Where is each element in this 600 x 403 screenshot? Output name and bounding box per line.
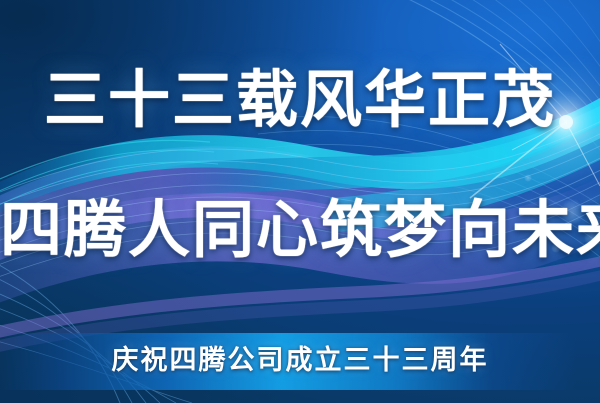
headline-line-2: 四腾人同心筑梦向未来 xyxy=(0,196,600,264)
subtitle-text: 庆祝四腾公司成立三十三周年 xyxy=(0,340,600,382)
headline-line-1: 三十三载风华正茂 xyxy=(0,66,600,134)
anniversary-banner: 三十三载风华正茂 四腾人同心筑梦向未来 庆祝四腾公司成立三十三周年 xyxy=(0,0,600,403)
